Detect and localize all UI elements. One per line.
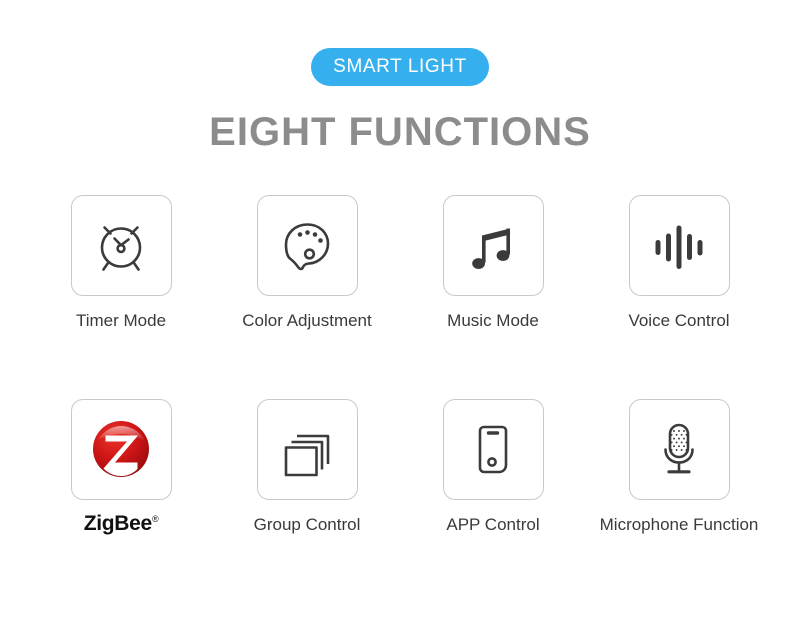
palette-icon	[276, 215, 338, 277]
sound-wave-icon	[648, 215, 710, 277]
music-note-icon	[462, 215, 524, 277]
feature-label: Group Control	[254, 516, 361, 535]
feature-label: Timer Mode	[76, 312, 166, 331]
feature-group-control: Group Control	[257, 399, 358, 535]
feature-label: Voice Control	[628, 312, 729, 331]
feature-label: ZigBee®	[84, 512, 159, 535]
feature-label: Color Adjustment	[242, 312, 371, 331]
icon-box-app-control	[443, 399, 544, 500]
feature-app-control: APP Control	[443, 399, 544, 535]
icon-box-zigbee	[71, 399, 172, 500]
smartphone-icon	[462, 418, 524, 480]
icon-box-group-control	[257, 399, 358, 500]
icon-box-voice-control	[629, 195, 730, 296]
feature-microphone-function: Microphone Function	[629, 399, 730, 535]
icon-box-color-adjustment	[257, 195, 358, 296]
feature-label: Music Mode	[447, 312, 539, 331]
feature-color-adjustment: Color Adjustment	[257, 195, 358, 331]
feature-timer-mode: Timer Mode	[71, 195, 172, 331]
features-row-2: ZigBee® Group Control	[0, 399, 800, 535]
registered-trademark-mark: ®	[152, 514, 158, 524]
page-title: EIGHT FUNCTIONS	[0, 112, 800, 152]
smart-light-badge: SMART LIGHT	[311, 48, 489, 86]
features-row-1: Timer Mode Color Adjustment	[0, 195, 800, 331]
alarm-clock-icon	[90, 215, 152, 277]
icon-box-music-mode	[443, 195, 544, 296]
icon-box-microphone-function	[629, 399, 730, 500]
feature-voice-control: Voice Control	[629, 195, 730, 331]
feature-zigbee: ZigBee®	[71, 399, 172, 535]
features-grid: Timer Mode Color Adjustment	[0, 195, 800, 535]
badge-row: SMART LIGHT	[0, 0, 800, 86]
zigbee-logo-icon	[89, 417, 153, 481]
icon-box-timer-mode	[71, 195, 172, 296]
page-header: SMART LIGHT EIGHT FUNCTIONS	[0, 0, 800, 152]
feature-music-mode: Music Mode	[443, 195, 544, 331]
feature-label: APP Control	[446, 516, 539, 535]
feature-label: Microphone Function	[600, 516, 759, 535]
stacked-squares-icon	[276, 418, 338, 480]
microphone-icon	[648, 418, 710, 480]
